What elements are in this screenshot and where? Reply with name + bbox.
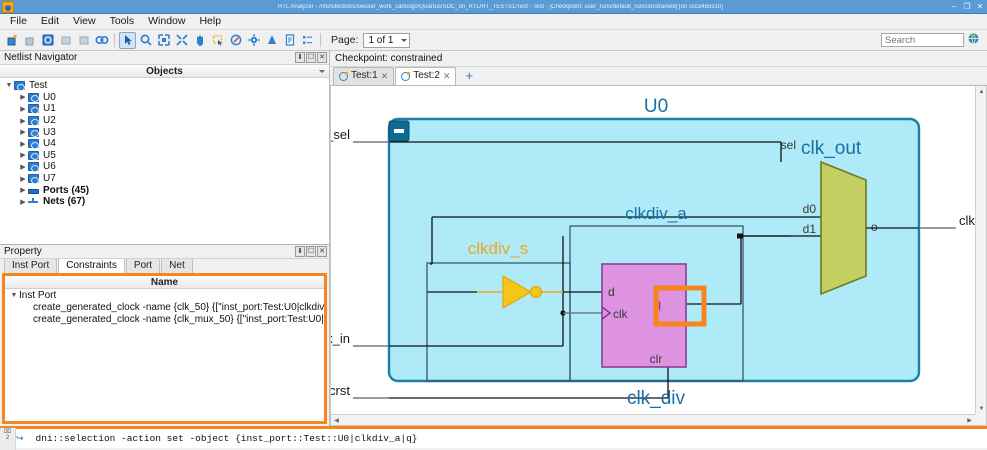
close-icon[interactable]: ✕ (443, 70, 451, 82)
tab-test-1[interactable]: Test:1 ✕ (333, 67, 394, 85)
objects-column-label: Objects (146, 66, 183, 77)
tree-item-u4[interactable]: ▶ U4 (0, 138, 329, 150)
restore-icon[interactable]: ☐ (306, 52, 316, 63)
close-button[interactable]: ✕ (975, 1, 985, 12)
minimize-button[interactable]: – (949, 1, 959, 12)
property-panel-title: Property (4, 246, 42, 257)
new-icon[interactable] (3, 32, 20, 49)
constraint-row[interactable]: create_generated_clock -name {clk_mux_50… (5, 313, 324, 325)
netlist-tree[interactable]: ▼ Test ▶ U0 ▶ U1 ▶ U2 (0, 78, 329, 244)
console-bar: ⌧ 2 ↪ dni::selection -action set -object… (0, 426, 987, 448)
console-command[interactable]: dni::selection -action set -object {inst… (26, 433, 418, 444)
clk-out-mux-label: clk_out (801, 138, 862, 159)
menu-item-edit[interactable]: Edit (35, 14, 65, 29)
vertical-scrollbar[interactable]: ▲ ▼ (975, 86, 986, 414)
zoom-icon[interactable] (137, 32, 154, 49)
rubber-band-select-icon[interactable] (209, 32, 226, 49)
property-panel: Property ⬇ ☐ ✕ Inst Port Constraints Por… (0, 244, 329, 426)
scroll-right-icon[interactable]: ▶ (964, 415, 975, 426)
tree-item-u1[interactable]: ▶ U1 (0, 103, 329, 115)
constraint-text: create_generated_clock -name {clk_mux_50… (33, 314, 327, 325)
schematic-bottom-label: clk_div (627, 388, 686, 409)
expand-arrow-icon[interactable]: ▶ (18, 140, 28, 148)
port-label-asyncrst: asyncrst (331, 383, 350, 398)
constraint-group-row[interactable]: ▼ Inst Port (5, 289, 324, 301)
pin-label-clk: clk (613, 307, 629, 321)
pin-label-d0: d0 (803, 202, 817, 216)
module-icon (28, 139, 39, 148)
expand-arrow-icon[interactable]: ▶ (18, 128, 28, 136)
document-tabs: Test:1 ✕ Test:2 ✕ + (330, 67, 987, 86)
menu-item-view[interactable]: View (67, 14, 102, 29)
pin-icon[interactable]: ⬇ (295, 246, 305, 257)
toolbar-separator-2 (320, 33, 321, 47)
tab-test-2[interactable]: Test:2 ✕ (395, 67, 456, 85)
expand-arrow-icon[interactable]: ▶ (18, 105, 28, 113)
pin-label-sel: sel (781, 138, 796, 152)
report-icon[interactable] (281, 32, 298, 49)
console-prompt: ↪ (16, 434, 24, 444)
expand-arrow-icon[interactable]: ▼ (4, 82, 14, 89)
clkdiv-s-label: clkdiv_s (468, 239, 528, 258)
title-bar: RTL Analyzer - /nfs/site/disks/swuser_wo… (0, 0, 987, 14)
filter-icon[interactable] (263, 32, 280, 49)
port-label-clk-out: clk_out (959, 213, 975, 228)
tree-item-label: U7 (43, 173, 56, 184)
pin-label-clr: clr (650, 352, 663, 366)
undo-icon[interactable] (57, 32, 74, 49)
pan-hand-icon[interactable] (191, 32, 208, 49)
main-body: Netlist Navigator ⬇ ☐ ✕ Objects ▼ Test (0, 51, 987, 426)
tree-item-nets[interactable]: ▶ Nets (67) (0, 196, 329, 208)
tree-item-u6[interactable]: ▶ U6 (0, 161, 329, 173)
netlist-navigator-title: Netlist Navigator (4, 52, 77, 63)
tree-item-label: U6 (43, 161, 56, 172)
clkdiv-a-label: clkdiv_a (625, 204, 687, 223)
tree-item-label: U3 (43, 127, 56, 138)
objects-column-header: Objects (0, 65, 329, 78)
schematic-canvas[interactable]: U0 (331, 86, 975, 414)
page-label: Page: (331, 34, 358, 46)
maximize-button[interactable]: ❐ (962, 1, 972, 12)
globe-icon[interactable] (967, 32, 980, 48)
restore-icon[interactable]: ☐ (306, 246, 316, 257)
tab-label: Test:2 (413, 70, 440, 82)
new-tab-button[interactable]: + (457, 69, 481, 85)
close-icon[interactable]: ✕ (317, 246, 327, 257)
search-input[interactable] (881, 33, 964, 47)
menu-item-help[interactable]: Help (193, 14, 227, 29)
checkpoint-label: Checkpoint: constrained (330, 51, 987, 67)
schematic-tab-icon (339, 72, 348, 81)
console-gutter-icon[interactable]: ⌧ (4, 428, 11, 435)
page-value: 1 of 1 (368, 35, 393, 46)
settings-gear-icon[interactable] (245, 32, 262, 49)
property-panel-header: Property ⬇ ☐ ✕ (0, 245, 329, 259)
save-icon[interactable] (39, 32, 56, 49)
expand-arrow-icon[interactable]: ▶ (18, 163, 28, 171)
schematic-tab-icon (401, 72, 410, 81)
schematic-canvas-wrapper: U0 (330, 86, 987, 426)
tree-item-label: U5 (43, 150, 56, 161)
select-arrow-icon[interactable] (119, 32, 136, 49)
open-icon[interactable] (21, 32, 38, 49)
menu-item-file[interactable]: File (4, 14, 33, 29)
expand-arrow-icon[interactable]: ▶ (18, 175, 28, 183)
port-label-clk-sel: clk_sel (331, 127, 350, 142)
port-label-clk-in: clk_in (331, 331, 350, 346)
menu-bar: File Edit View Tools Window Help (0, 14, 987, 30)
constraint-text: create_generated_clock -name {clk_50} {[… (33, 302, 327, 313)
window-controls[interactable]: – ❐ ✕ (949, 1, 985, 12)
left-dock: Netlist Navigator ⬇ ☐ ✕ Objects ▼ Test (0, 51, 330, 426)
rtl-analyzer-window: RTL Analyzer - /nfs/site/disks/swuser_wo… (0, 0, 987, 448)
hierarchy-icon[interactable] (299, 32, 316, 49)
schematic-svg: U0 (331, 86, 975, 414)
page-select[interactable]: 1 of 1 (363, 33, 410, 48)
pin-icon[interactable]: ⬇ (295, 52, 305, 63)
expand-arrow-icon[interactable]: ▶ (18, 93, 28, 101)
console-gutter: ⌧ 2 (0, 428, 16, 450)
module-icon (14, 81, 25, 90)
tree-item-label: U4 (43, 138, 56, 149)
constraints-list[interactable]: Name ▼ Inst Port create_generated_clock … (2, 273, 327, 424)
tree-item-u7[interactable]: ▶ U7 (0, 173, 329, 185)
module-icon (28, 174, 39, 183)
schematic-top-label: U0 (644, 96, 668, 117)
find-icon[interactable] (93, 32, 110, 49)
tree-item-label: Test (29, 80, 47, 91)
name-column-header: Name (5, 276, 324, 289)
tab-inst-port[interactable]: Inst Port (4, 258, 57, 273)
netlist-dock-buttons: ⬇ ☐ ✕ (295, 52, 327, 63)
chevron-down-icon[interactable] (319, 70, 325, 73)
tab-port[interactable]: Port (126, 258, 160, 273)
module-icon (28, 104, 39, 113)
tree-item-label: Nets (67) (43, 196, 85, 207)
net-icon (28, 197, 39, 206)
module-icon (28, 162, 39, 171)
constraint-group-label: Inst Port (19, 290, 56, 301)
constraint-row[interactable]: create_generated_clock -name {clk_50} {[… (5, 301, 324, 313)
tree-item-ports[interactable]: ▶ Ports (45) (0, 184, 329, 196)
expand-arrow-icon[interactable]: ▶ (18, 117, 28, 125)
tree-item-u5[interactable]: ▶ U5 (0, 150, 329, 162)
expand-arrow-icon[interactable]: ▶ (18, 198, 28, 206)
property-tabs: Inst Port Constraints Port Net (0, 259, 329, 273)
scroll-up-icon[interactable]: ▲ (976, 86, 987, 97)
clk-out-mux[interactable] (821, 162, 866, 294)
chevron-down-icon (401, 39, 407, 42)
pin-label-d: d (608, 285, 615, 299)
close-icon[interactable]: ✕ (381, 70, 389, 82)
name-column-label: Name (151, 277, 178, 288)
tree-item-label: U1 (43, 103, 56, 114)
window-title: RTL Analyzer - /nfs/site/disks/swuser_wo… (14, 4, 987, 10)
editor-area: Checkpoint: constrained Test:1 ✕ Test:2 … (330, 51, 987, 426)
tree-item-test[interactable]: ▼ Test (0, 80, 329, 92)
tree-item-label: Ports (45) (43, 185, 89, 196)
menu-item-tools[interactable]: Tools (104, 14, 141, 29)
netlist-navigator-header: Netlist Navigator ⬇ ☐ ✕ (0, 51, 329, 65)
redo-icon[interactable] (75, 32, 92, 49)
pin-label-d1: d1 (803, 222, 817, 236)
tree-item-u2[interactable]: ▶ U2 (0, 115, 329, 127)
module-icon (28, 93, 39, 102)
collapse-button[interactable] (389, 121, 409, 141)
module-icon (28, 116, 39, 125)
app-icon (2, 1, 14, 13)
zoom-fit-icon[interactable] (155, 32, 172, 49)
toolbar-separator (114, 33, 115, 47)
close-icon[interactable]: ✕ (317, 52, 327, 63)
port-icon (28, 189, 39, 194)
tree-item-u3[interactable]: ▶ U3 (0, 126, 329, 138)
console-gutter-line-2: 2 (6, 435, 9, 441)
expand-arrow-icon[interactable]: ▼ (9, 292, 19, 299)
tab-constraints[interactable]: Constraints (58, 258, 125, 273)
pin-label-o: o (871, 220, 878, 234)
scrollbar-corner (975, 414, 986, 425)
property-dock-buttons: ⬇ ☐ ✕ (295, 246, 327, 257)
highlight-icon[interactable] (227, 32, 244, 49)
scroll-left-icon[interactable]: ◀ (331, 415, 342, 426)
expand-arrow-icon[interactable]: ▶ (18, 186, 28, 194)
tree-item-u0[interactable]: ▶ U0 (0, 92, 329, 104)
scroll-down-icon[interactable]: ▼ (976, 403, 987, 414)
main-toolbar: Page: 1 of 1 (0, 30, 987, 51)
expand-arrow-icon[interactable]: ▶ (18, 151, 28, 159)
zoom-selection-icon[interactable] (173, 32, 190, 49)
tree-item-label: U0 (43, 92, 56, 103)
tab-label: Test:1 (351, 70, 378, 82)
inverter-bubble-icon (531, 287, 542, 298)
module-icon (28, 151, 39, 160)
search-area (881, 32, 980, 48)
tab-net[interactable]: Net (161, 258, 193, 273)
horizontal-scrollbar[interactable]: ◀ ▶ (331, 414, 975, 425)
tree-item-label: U2 (43, 115, 56, 126)
menu-item-window[interactable]: Window (142, 14, 191, 29)
module-icon (28, 128, 39, 137)
